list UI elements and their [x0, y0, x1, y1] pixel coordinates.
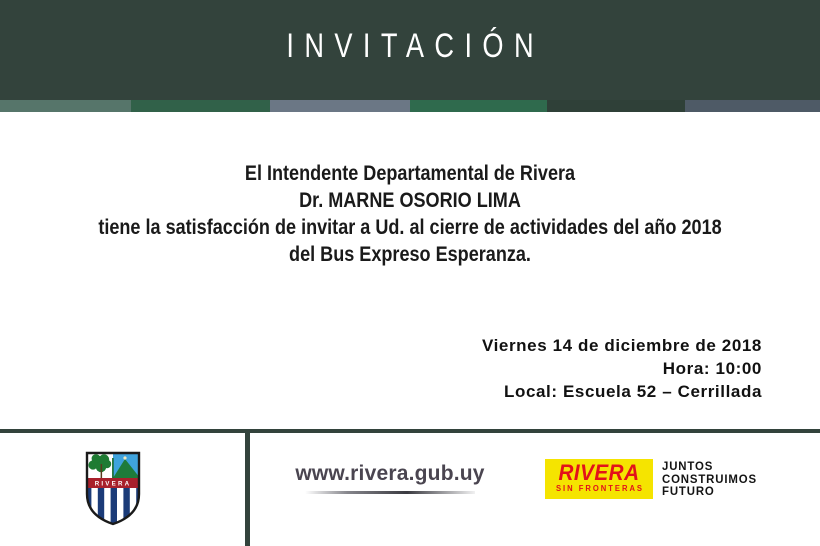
- svg-text:RIVERA: RIVERA: [95, 480, 132, 487]
- event-details: Viernes 14 de diciembre de 2018 Hora: 10…: [482, 334, 762, 403]
- brand-subtitle: SIN FRONTERAS: [548, 484, 651, 494]
- invitation-body: El Intendente Departamental de Rivera Dr…: [0, 160, 820, 268]
- event-date: Viernes 14 de diciembre de 2018: [482, 334, 762, 357]
- website-underline: [305, 491, 475, 494]
- body-line-4: del Bus Expreso Esperanza.: [57, 241, 762, 268]
- event-time: Hora: 10:00: [482, 357, 762, 380]
- color-strip: [0, 100, 820, 112]
- invitation-card: INVITACIÓN El Intendente Departamental d…: [0, 0, 820, 546]
- brand-mark: RIVERA SIN FRONTERAS: [545, 459, 653, 499]
- website-block: www.rivera.gub.uy: [250, 462, 530, 494]
- rivera-coat-of-arms-icon: RIVERA: [84, 450, 142, 526]
- color-strip-segment-6: [685, 100, 820, 112]
- brand-tagline: JUNTOS CONSTRUIMOS FUTURO: [662, 460, 757, 498]
- color-strip-segment-1: [0, 100, 131, 112]
- rivera-brand-logo: RIVERA SIN FRONTERAS JUNTOS CONSTRUIMOS …: [545, 459, 762, 499]
- brand-tagline-line-1: JUNTOS: [662, 460, 757, 473]
- color-strip-segment-4: [410, 100, 547, 112]
- body-line-3: tiene la satisfacción de invitar a Ud. a…: [57, 214, 762, 241]
- event-location: Local: Escuela 52 – Cerrillada: [482, 380, 762, 403]
- body-line-1: El Intendente Departamental de Rivera: [57, 160, 762, 187]
- page-title: INVITACIÓN: [82, 26, 738, 66]
- body-line-2: Dr. MARNE OSORIO LIMA: [57, 187, 762, 214]
- brand-name: RIVERA: [548, 461, 650, 484]
- footer-horizontal-divider: [0, 429, 820, 433]
- brand-tagline-line-3: FUTURO: [662, 485, 757, 498]
- color-strip-segment-5: [547, 100, 685, 112]
- color-strip-segment-3: [270, 100, 410, 112]
- color-strip-segment-2: [131, 100, 270, 112]
- website-url[interactable]: www.rivera.gub.uy: [250, 462, 530, 486]
